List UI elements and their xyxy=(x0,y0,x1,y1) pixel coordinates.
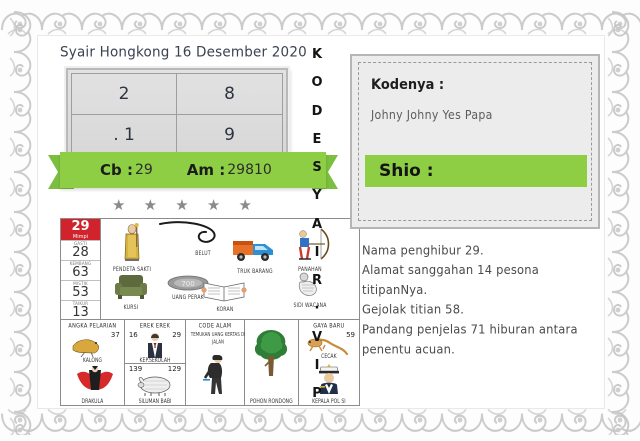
mimpi-row-value: 28 xyxy=(61,246,100,260)
brand-letter: Y xyxy=(312,189,321,202)
rating-stars: ★ ★ ★ ★ ★ xyxy=(112,198,252,213)
brand-letter: V xyxy=(312,331,322,344)
cell-number: 37 xyxy=(111,331,120,339)
cell-divider xyxy=(125,363,185,364)
picture-item: KORAN xyxy=(197,279,253,312)
kode-box: Kodenya : Johny Johny Yes Papa Shio : xyxy=(350,54,600,229)
result-ribbon: Cb : 29 Am : 29810 xyxy=(48,152,338,194)
mimpi-number-row: TAIKUR 13 xyxy=(61,300,100,320)
cell-caption: DRAKULA xyxy=(61,399,124,405)
brand-letter: R xyxy=(312,274,322,287)
poem-line: Gejolak titian 58. xyxy=(362,299,602,319)
brand-vertical: K O D E S Y A I R · V I P xyxy=(306,48,328,400)
monk-icon xyxy=(121,223,143,263)
brand-letter: K xyxy=(312,48,322,61)
ornament-border-top xyxy=(0,6,640,40)
star-icon: ★ xyxy=(239,198,252,213)
cell-caption: POHON RONDONG xyxy=(245,399,298,405)
picture-caption: TRUK BARANG xyxy=(227,269,283,275)
cb-label: Cb : xyxy=(100,161,133,179)
cell-caption: TEMUKAN UANG KERTAS DI JALAN xyxy=(186,331,250,346)
cell-number: 16 xyxy=(129,331,138,339)
syair-page: Syair Hongkong 16 Desember 2020 2 8 . 1 … xyxy=(0,0,640,441)
schoolmaster-icon xyxy=(145,332,165,358)
truck-icon xyxy=(231,235,279,265)
cb-value: 29 xyxy=(135,162,153,178)
mimpi-number-column: 29 Mimpi GASTI 28 KEMBANG 63 MISTIK 53 xyxy=(61,219,101,319)
brand-letter: O xyxy=(311,76,322,89)
brand-letter: I xyxy=(315,359,320,372)
man-bowing-icon xyxy=(201,352,229,396)
picture-caption: KORAN xyxy=(197,307,253,313)
number-cell: 8 xyxy=(177,74,282,115)
mimpi-cell-angka-pelarian: ANGKA PELARIAN 37 KALONG DRAKULA xyxy=(61,320,125,405)
tree-icon xyxy=(252,328,290,380)
poem-line: Nama penghibur 29. xyxy=(362,240,602,260)
brand-letter: I xyxy=(315,246,320,259)
shio-label: Shio : xyxy=(379,161,434,181)
ornament-border-bottom xyxy=(0,403,640,439)
number-cell: 2 xyxy=(72,74,177,115)
mimpi-row-value: 63 xyxy=(61,266,100,280)
prediction-number-panel: 2 8 . 1 9 xyxy=(66,68,288,161)
mimpi-number-row: KEMBANG 63 xyxy=(61,260,100,280)
pig-icon xyxy=(137,374,173,396)
armchair-icon xyxy=(113,271,149,301)
mimpi-cell-erek-erek: EREK EREK 16 29 KEP.SEKOLAH 139 129 xyxy=(125,320,186,405)
mimpi-number-row: MISTIK 53 xyxy=(61,280,100,300)
picture-caption: BELUT xyxy=(181,251,225,257)
ornament-border-left xyxy=(4,10,38,435)
page-title: Syair Hongkong 16 Desember 2020 xyxy=(60,44,304,61)
picture-item: TRUK BARANG xyxy=(227,235,283,274)
brand-letter: A xyxy=(312,218,322,231)
poem-line: Pandang penjelas 71 hiburan antara xyxy=(362,319,602,339)
number-cell: . 1 xyxy=(72,115,177,156)
mimpi-main-number: 29 Mimpi xyxy=(61,219,100,240)
dracula-icon xyxy=(75,364,115,396)
brand-letter: · xyxy=(315,302,320,315)
eel-icon xyxy=(158,221,222,247)
shio-bar: Shio : xyxy=(365,155,587,187)
star-icon: ★ xyxy=(112,198,125,213)
cell-caption: SILUMAN BABI xyxy=(125,399,185,405)
prediction-number-grid: 2 8 . 1 9 xyxy=(71,73,283,156)
picture-item: PENDETA SAKTI xyxy=(109,223,155,272)
ribbon-body: Cb : 29 Am : 29810 xyxy=(60,152,326,188)
star-icon: ★ xyxy=(175,198,188,213)
number-cell: 9 xyxy=(177,115,282,156)
star-icon: ★ xyxy=(207,198,220,213)
cell-header: ANGKA PELARIAN xyxy=(61,320,124,330)
picture-item: KURSI xyxy=(107,271,155,310)
picture-item: BELUT xyxy=(155,221,225,256)
mimpi-cell-pohon: POHON RONDONG xyxy=(245,320,299,405)
mimpi-row-value: 53 xyxy=(61,286,100,300)
poem-line: Alamat sanggahan 14 pesona xyxy=(362,260,602,280)
kodenya-value: Johny Johny Yes Papa xyxy=(371,108,579,123)
poem-text: Nama penghibur 29. Alamat sanggahan 14 p… xyxy=(362,240,602,359)
brand-letter: E xyxy=(313,133,322,146)
star-icon: ★ xyxy=(144,198,157,213)
brand-letter: D xyxy=(312,105,323,118)
cell-header: CODE ALAM xyxy=(186,320,244,330)
cell-number: 129 xyxy=(168,365,181,373)
picture-caption: KURSI xyxy=(107,305,155,311)
am-value: 29810 xyxy=(227,162,272,178)
newspaper-icon xyxy=(200,279,250,303)
kodenya-label: Kodenya : xyxy=(371,77,579,93)
bat-bird-icon xyxy=(69,336,103,358)
am-label: Am : xyxy=(187,161,225,179)
kode-box-inner: Kodenya : Johny Johny Yes Papa Shio : xyxy=(358,62,592,221)
mimpi-cell-code-alam: CODE ALAM TEMUKAN UANG KERTAS DI JALAN xyxy=(186,320,245,405)
brand-letter: P xyxy=(312,387,322,400)
mimpi-row-value: 13 xyxy=(61,306,100,320)
cell-header xyxy=(245,320,298,323)
ornament-border-right xyxy=(602,10,636,435)
svg-text:700: 700 xyxy=(181,280,194,288)
cell-number: 139 xyxy=(129,365,142,373)
mimpi-number-row: GASTI 28 xyxy=(61,240,100,260)
cell-number: 29 xyxy=(172,331,181,339)
poem-line: penentu acuan. xyxy=(362,339,602,359)
cell-header: EREK EREK xyxy=(125,320,185,330)
left-column: Syair Hongkong 16 Desember 2020 2 8 . 1 … xyxy=(46,38,304,406)
mimpi-main-value: 29 xyxy=(71,219,89,234)
poem-line: titipanNya. xyxy=(362,280,602,300)
brand-letter: S xyxy=(312,161,321,174)
